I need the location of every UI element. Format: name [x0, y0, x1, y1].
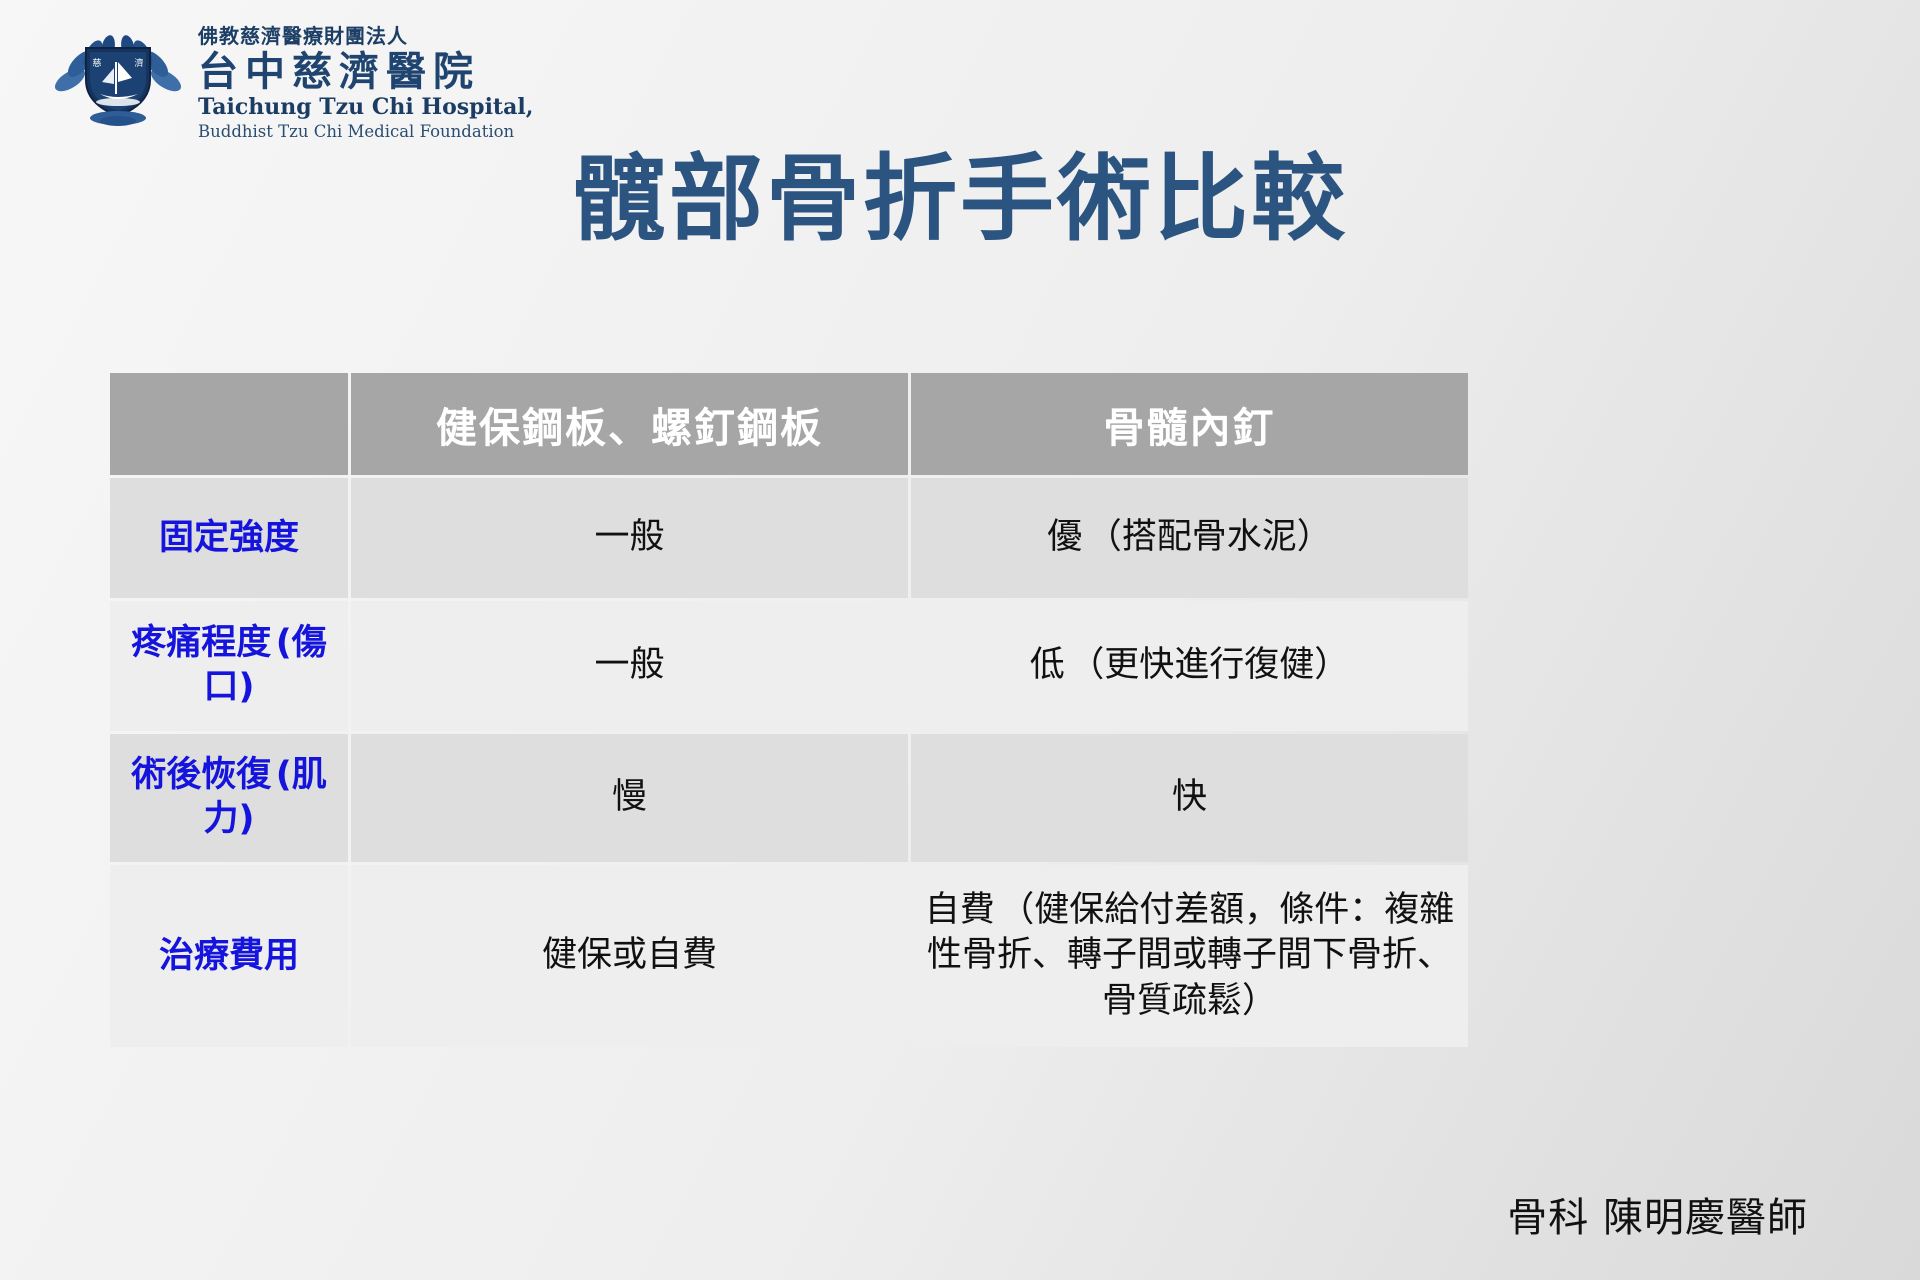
column-header-plate: 健保鋼板、螺釘鋼板 [351, 373, 908, 475]
table-row: 治療費用 健保或自費 自費 （健保給付差額，條件：複雜性骨折、轉子間或轉子間下骨… [110, 865, 1468, 1047]
cell-value: 自費 [925, 890, 995, 930]
row-label: 術後恢復 [131, 755, 271, 795]
logo-hospital-name-zh: 台中慈濟醫院 [198, 50, 533, 93]
hospital-logo-block: 慈 濟 佛教慈濟醫療財團法人 台中慈濟醫院 Taichung Tzu Chi H… [52, 18, 533, 142]
row-label: 固定強度 [159, 518, 299, 558]
cell-value: 一般 [594, 645, 664, 685]
row-value-plate: 慢 [351, 734, 908, 862]
cell-value: 一般 [594, 517, 664, 557]
table-row: 疼痛程度 (傷口) 一般 低 （更快進行復健） [110, 601, 1468, 731]
cell-value: 慢 [612, 777, 647, 817]
row-label: 治療費用 [159, 936, 299, 976]
svg-text:慈: 慈 [92, 57, 101, 69]
cell-value: 快 [1172, 777, 1207, 817]
cell-value: 優 [1047, 517, 1082, 557]
column-header-blank [110, 373, 348, 475]
page-title: 髖部骨折手術比較 [0, 148, 1920, 251]
row-label-cell: 固定強度 [110, 478, 348, 598]
cell-value: 健保或自費 [542, 935, 717, 975]
hospital-logo-text: 佛教慈濟醫療財團法人 台中慈濟醫院 Taichung Tzu Chi Hospi… [198, 18, 533, 142]
row-value-nail: 快 [911, 734, 1468, 862]
row-value-plate: 健保或自費 [351, 865, 908, 1047]
table-body: 固定強度 一般 優 （搭配骨水泥） 疼痛程度 (傷口) 一般 低 （更快進行復健… [110, 478, 1468, 1047]
row-value-nail: 優 （搭配骨水泥） [911, 478, 1468, 598]
row-label: 疼痛程度 [131, 623, 271, 663]
logo-hospital-name-en: Taichung Tzu Chi Hospital, [198, 95, 533, 121]
row-label-cell: 術後恢復 (肌力) [110, 734, 348, 862]
table-header-row: 健保鋼板、螺釘鋼板 骨髓內釘 [110, 373, 1468, 475]
cell-value: 低 [1030, 645, 1065, 685]
column-header-nail: 骨髓內釘 [911, 373, 1468, 475]
comparison-table: 健保鋼板、螺釘鋼板 骨髓內釘 固定強度 一般 優 （搭配骨水泥） 疼痛程度 (傷… [107, 370, 1471, 1050]
cell-note: （搭配骨水泥） [1087, 517, 1332, 557]
row-label-cell: 治療費用 [110, 865, 348, 1047]
table-row: 術後恢復 (肌力) 慢 快 [110, 734, 1468, 862]
row-value-nail: 自費 （健保給付差額，條件：複雜性骨折、轉子間或轉子間下骨折、骨質疏鬆） [911, 865, 1468, 1047]
cell-note: （健保給付差額，條件：複雜性骨折、轉子間或轉子間下骨折、骨質疏鬆） [927, 890, 1454, 1021]
table-header: 健保鋼板、螺釘鋼板 骨髓內釘 [110, 373, 1468, 475]
tzu-chi-lotus-ship-emblem-icon: 慈 濟 [52, 18, 184, 128]
row-value-plate: 一般 [351, 478, 908, 598]
row-value-nail: 低 （更快進行復健） [911, 601, 1468, 731]
logo-foundation-line: 佛教慈濟醫療財團法人 [198, 24, 533, 49]
logo-foundation-name-en: Buddhist Tzu Chi Medical Foundation [198, 122, 533, 142]
cell-note: （更快進行復健） [1069, 645, 1349, 685]
svg-text:濟: 濟 [134, 57, 143, 69]
row-value-plate: 一般 [351, 601, 908, 731]
footer-credit: 骨科 陳明慶醫師 [1507, 1185, 1808, 1243]
row-label-cell: 疼痛程度 (傷口) [110, 601, 348, 731]
table-row: 固定強度 一般 優 （搭配骨水泥） [110, 478, 1468, 598]
